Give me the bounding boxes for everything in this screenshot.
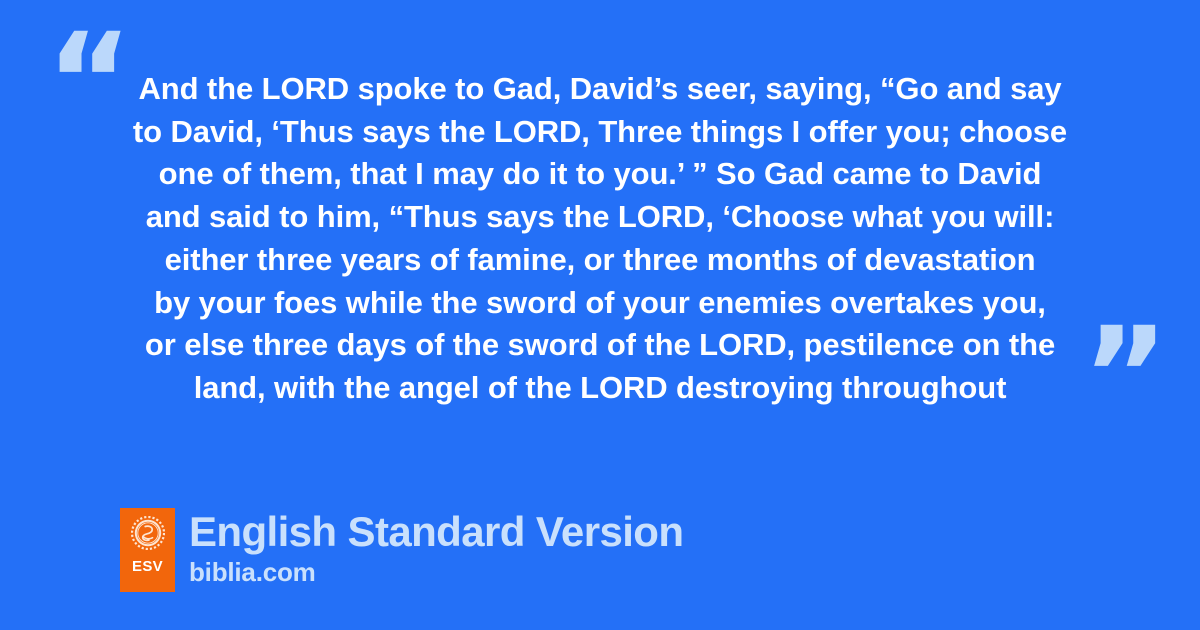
attribution-footer: ESV English Standard Version biblia.com: [120, 508, 683, 592]
verse-line: either three years of famine, or three m…: [100, 239, 1100, 282]
verse-line: land, with the angel of the LORD destroy…: [100, 367, 1100, 410]
verse-line: to David, ‘Thus says the LORD, Three thi…: [100, 111, 1100, 154]
attribution-text: English Standard Version biblia.com: [189, 508, 683, 587]
bible-version-name: English Standard Version: [189, 509, 683, 555]
verse-line: by your foes while the sword of your ene…: [100, 282, 1100, 325]
esv-logo-badge: ESV: [120, 508, 175, 592]
esv-abbreviation-label: ESV: [132, 559, 163, 574]
site-url-label: biblia.com: [189, 557, 683, 587]
verse-line: one of them, that I may do it to you.’ ”…: [100, 153, 1100, 196]
verse-line: And the LORD spoke to Gad, David’s seer,…: [100, 68, 1100, 111]
verse-line: and said to him, “Thus says the LORD, ‘C…: [100, 196, 1100, 239]
verse-line: or else three days of the sword of the L…: [100, 324, 1100, 367]
esv-seal-icon: [131, 516, 165, 550]
verse-text-block: And the LORD spoke to Gad, David’s seer,…: [100, 68, 1100, 410]
verse-card: “ ” And the LORD spoke to Gad, David’s s…: [0, 0, 1200, 630]
